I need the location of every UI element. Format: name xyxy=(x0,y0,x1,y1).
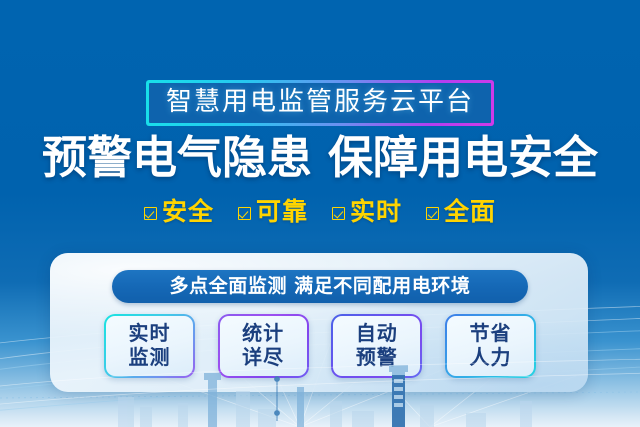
title-chip-inner: 智慧用电监管服务云平台 xyxy=(149,83,491,123)
checkbox-check-icon xyxy=(332,207,345,220)
feature-card-detailed-statistics[interactable]: 统计 详尽 xyxy=(218,314,309,378)
highlight-label: 可靠 xyxy=(256,200,308,225)
feature-card-realtime-monitoring[interactable]: 实时 监测 xyxy=(104,314,195,378)
title-chip-container: 智慧用电监管服务云平台 xyxy=(0,80,640,126)
feature-card-row: 实时 监测 统计 详尽 自动 预警 节省 人力 xyxy=(104,314,536,378)
feature-card-line1: 实时 xyxy=(129,323,171,345)
feature-card-inner: 统计 详尽 xyxy=(220,316,307,376)
feature-card-save-manpower[interactable]: 节省 人力 xyxy=(445,314,536,378)
feature-card-line1: 节省 xyxy=(469,323,511,345)
highlight-item-0: 安全 xyxy=(144,200,214,225)
checkbox-check-icon xyxy=(426,207,439,220)
panel-banner-text: 多点全面监测满足不同配用电环境 xyxy=(169,277,470,296)
checkbox-check-icon xyxy=(144,207,157,220)
headline-right: 保障用电安全 xyxy=(328,132,598,183)
poster-root: 智慧用电监管服务云平台 预警电气隐患保障用电安全 安全 可靠 实时 全面 xyxy=(0,0,640,427)
panel-banner: 多点全面监测满足不同配用电环境 xyxy=(112,270,528,303)
feature-card-line1: 自动 xyxy=(356,323,398,345)
highlight-item-2: 实时 xyxy=(332,200,402,225)
panel-banner-right: 满足不同配用电环境 xyxy=(294,276,470,297)
checkbox-check-icon xyxy=(238,207,251,220)
headline: 预警电气隐患保障用电安全 xyxy=(0,134,640,181)
title-chip-border: 智慧用电监管服务云平台 xyxy=(146,80,494,126)
headline-left: 预警电气隐患 xyxy=(42,132,312,183)
feature-card-inner: 节省 人力 xyxy=(447,316,534,376)
platform-title: 智慧用电监管服务云平台 xyxy=(166,87,474,116)
feature-card-inner: 实时 监测 xyxy=(106,316,193,376)
feature-card-line2: 人力 xyxy=(469,347,511,369)
highlight-label: 实时 xyxy=(350,200,402,225)
highlight-item-1: 可靠 xyxy=(238,200,308,225)
feature-card-inner: 自动 预警 xyxy=(333,316,420,376)
highlight-item-3: 全面 xyxy=(426,200,496,225)
panel-banner-left: 多点全面监测 xyxy=(169,276,287,297)
highlight-row: 安全 可靠 实时 全面 xyxy=(0,200,640,225)
feature-card-line1: 统计 xyxy=(242,323,284,345)
highlight-label: 安全 xyxy=(162,200,214,225)
highlight-label: 全面 xyxy=(444,200,496,225)
feature-card-line2: 详尽 xyxy=(242,347,284,369)
feature-card-line2: 预警 xyxy=(356,347,398,369)
feature-card-line2: 监测 xyxy=(129,347,171,369)
feature-card-auto-alarm[interactable]: 自动 预警 xyxy=(331,314,422,378)
